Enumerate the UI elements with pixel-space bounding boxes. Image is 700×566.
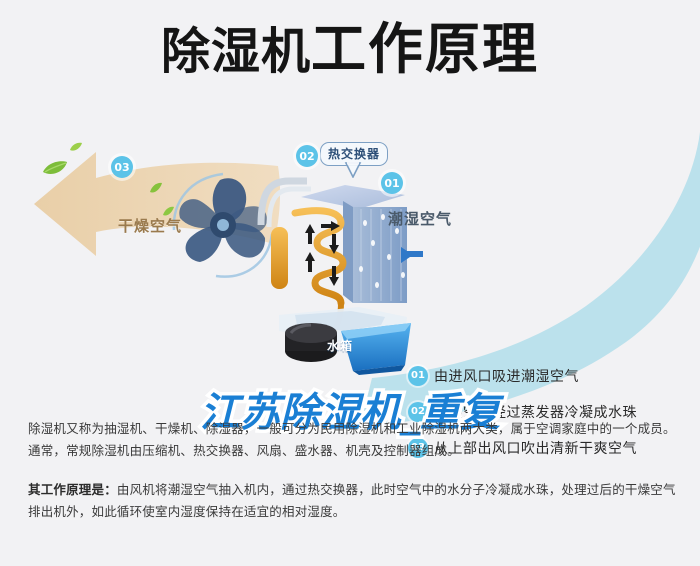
paragraph-2-text: 由风机将潮湿空气抽入机内，通过热交换器，此时空气中的水分子冷凝成水珠，处理过后的…	[28, 483, 676, 519]
paragraph-1: 除湿机又称为抽湿机、干燥机、除湿器，一般可分为民用除湿机和工业除湿机两大类，属于…	[28, 418, 678, 462]
label-dry-air: 干燥空气	[118, 215, 182, 236]
diagram-badge-03: 03	[111, 156, 133, 178]
dehumidifier-diagram: 干燥空气 潮湿空气 水箱 热交换器 03 02 01 01 由进风口吸进潮湿空气…	[0, 120, 700, 395]
step-badge-01: 01	[408, 366, 428, 386]
callout-heat-exchanger: 热交换器	[320, 142, 388, 166]
leaf-icon	[42, 160, 68, 176]
paragraph-2-lead: 其工作原理是：	[28, 483, 117, 497]
list-item: 01 由进风口吸进潮湿空气	[408, 365, 637, 386]
label-water-tank: 水箱	[327, 337, 353, 354]
infographic-page: 除湿机工作原理	[0, 0, 700, 566]
page-title-part1: 除湿机	[161, 25, 311, 79]
page-title: 除湿机工作原理	[0, 22, 700, 77]
body-copy: 除湿机又称为抽湿机、干燥机、除湿器，一般可分为民用除湿机和工业除湿机两大类，属于…	[28, 418, 678, 540]
leaf-icon	[70, 142, 82, 152]
callout-tail-icon	[344, 162, 362, 178]
leaf-icon	[149, 182, 163, 194]
diagram-badge-01: 01	[381, 172, 403, 194]
page-title-part2: 工作原理	[311, 17, 539, 81]
paragraph-2: 其工作原理是：由风机将潮湿空气抽入机内，通过热交换器，此时空气中的水分子冷凝成水…	[28, 479, 678, 523]
label-humid-air: 潮湿空气	[388, 208, 452, 229]
diagram-badge-02: 02	[296, 145, 318, 167]
step-text-01: 由进风口吸进潮湿空气	[434, 366, 579, 386]
